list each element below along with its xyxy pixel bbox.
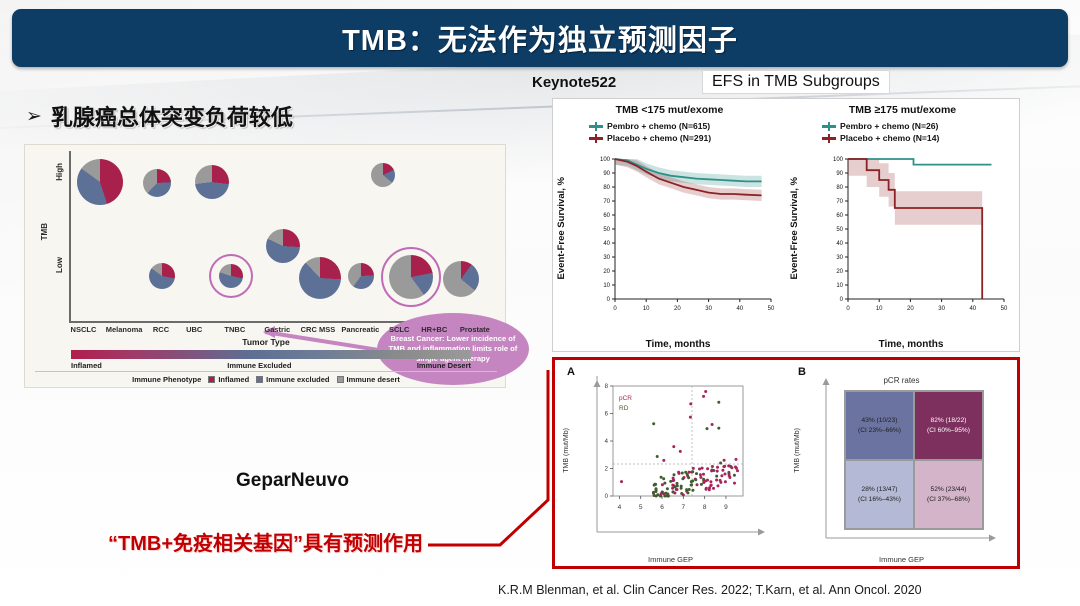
svg-text:40: 40 bbox=[969, 306, 976, 312]
efs-section-label: EFS in TMB Subgroups bbox=[702, 70, 890, 94]
xtick-tnbc: TNBC bbox=[213, 325, 257, 334]
xtick-pancreatic: Pancreatic bbox=[338, 325, 382, 334]
svg-text:90: 90 bbox=[836, 171, 843, 177]
km-legend-high: Pembro + chemo (N=26) Placebo + chemo (N… bbox=[822, 121, 939, 145]
heat-cell-low-low: 28% (13/47) (CI 16%–43%) bbox=[845, 460, 914, 529]
tmb-immune-phenotype-figure: High Low TMB Breast Cancer: Lower incide… bbox=[24, 144, 506, 388]
bubble-plot-area bbox=[71, 151, 491, 323]
gepar-panel-b-xlabel: Immune GEP bbox=[786, 555, 1017, 564]
highlight-ring-tnbc bbox=[209, 254, 253, 298]
svg-text:40: 40 bbox=[603, 241, 610, 247]
svg-text:40: 40 bbox=[736, 306, 743, 312]
xtick-melanoma: Melanoma bbox=[102, 325, 146, 334]
heat-cell-rate-high-low: 43% (10/23) bbox=[862, 416, 898, 426]
geparneuvo-title: GeparNeuvo bbox=[236, 470, 349, 492]
bubble-point-rcc bbox=[149, 263, 175, 289]
km-legend-item-placebo-high: Placebo + chemo (N=14) bbox=[822, 133, 939, 143]
km-legend-low: Pembro + chemo (N=615) Placebo + chemo (… bbox=[589, 121, 711, 145]
bubble-point-pancreatic bbox=[348, 263, 374, 289]
gepar-panel-a-xlabel: Immune GEP bbox=[555, 555, 786, 564]
xtick-ubc: UBC bbox=[176, 325, 213, 334]
xtick-gastric: Gastric bbox=[257, 325, 298, 334]
heat-cell-high-low: 43% (10/23) (CI 23%–66%) bbox=[845, 391, 914, 460]
bubble-y-axis-label: TMB bbox=[40, 223, 49, 240]
bubble-x-tick-labels: NSCLC Melanoma RCC UBC TNBC Gastric CRC … bbox=[65, 325, 497, 334]
bullet-label: 乳腺癌总体突变负荷较低 bbox=[51, 100, 293, 132]
svg-text:10: 10 bbox=[603, 283, 610, 289]
bubble-point-nsclc bbox=[77, 159, 123, 205]
km-panel-high-tmb: TMB ≥175 mut/exome Pembro + chemo (N=26)… bbox=[786, 99, 1019, 353]
citation-text: K.R.M Blenman, et al. Clin Cancer Res. 2… bbox=[498, 583, 922, 597]
bubble-x-axis-label: Tumor Type bbox=[25, 337, 507, 347]
heat-cell-ci-high-low: (CI 23%–66%) bbox=[858, 426, 901, 436]
km-y-axis-label-high: Event-Free Survival, % bbox=[789, 177, 800, 279]
bubble-point-crcmss bbox=[299, 257, 341, 299]
gradient-label-excluded: Immune Excluded bbox=[227, 361, 291, 370]
xtick-rcc: RCC bbox=[146, 325, 176, 334]
svg-text:20: 20 bbox=[836, 269, 843, 275]
svg-text:90: 90 bbox=[603, 171, 610, 177]
svg-text:60: 60 bbox=[603, 213, 610, 219]
xtick-hrbc: HR+BC bbox=[416, 325, 453, 334]
svg-text:50: 50 bbox=[1001, 306, 1008, 312]
legend-item-excluded: Immune excluded bbox=[256, 375, 329, 384]
svg-text:50: 50 bbox=[768, 306, 775, 312]
km-legend-label-pembro-high: Pembro + chemo (N=26) bbox=[840, 121, 938, 131]
svg-text:30: 30 bbox=[603, 255, 610, 261]
svg-text:0: 0 bbox=[605, 494, 609, 500]
slide-title-bar: TMB：无法作为独立预测因子 bbox=[12, 9, 1068, 67]
heat-cell-ci-low-low: (CI 16%–43%) bbox=[858, 495, 901, 505]
svg-text:7: 7 bbox=[682, 504, 686, 511]
bubble-ytick-low: Low bbox=[55, 257, 64, 273]
keynote-study-label: Keynote522 bbox=[532, 74, 616, 91]
km-panel-title-high: TMB ≥175 mut/exome bbox=[786, 104, 1019, 116]
heat-cell-rate-low-low: 28% (13/47) bbox=[862, 485, 898, 495]
svg-text:40: 40 bbox=[836, 241, 843, 247]
km-legend-label-placebo-high: Placebo + chemo (N=14) bbox=[840, 133, 939, 143]
svg-text:30: 30 bbox=[836, 255, 843, 261]
gradient-tick-labels: Inflamed Immune Excluded Immune Desert bbox=[71, 361, 471, 370]
svg-text:80: 80 bbox=[836, 185, 843, 191]
svg-text:70: 70 bbox=[836, 199, 843, 205]
svg-text:100: 100 bbox=[600, 157, 611, 163]
km-x-axis-label-high: Time, months bbox=[816, 339, 1006, 350]
svg-text:0: 0 bbox=[840, 297, 844, 303]
highlight-ring-hrbc bbox=[381, 247, 441, 307]
gepar-legend-rd: RD bbox=[619, 405, 629, 412]
bullet-heading: ➢ 乳腺癌总体突变负荷较低 bbox=[26, 100, 293, 132]
svg-text:60: 60 bbox=[836, 213, 843, 219]
km-plot-high: 0102030405060708090100 01020304050 bbox=[808, 153, 1016, 333]
svg-text:100: 100 bbox=[833, 157, 844, 163]
heat-cell-low-high: 52% (23/44) (CI 37%–68%) bbox=[914, 460, 983, 529]
km-legend-mark-placebo bbox=[589, 137, 603, 140]
heat-cell-rate-high-high: 82% (18/22) bbox=[931, 416, 967, 426]
km-legend-label-pembro-low: Pembro + chemo (N=615) bbox=[607, 121, 710, 131]
km-legend-item-pembro-high: Pembro + chemo (N=26) bbox=[822, 121, 939, 131]
km-legend-label-placebo-low: Placebo + chemo (N=291) bbox=[607, 133, 711, 143]
km-legend-mark-placebo-high bbox=[822, 137, 836, 140]
legend-item-inflamed: Inflamed bbox=[208, 375, 249, 384]
svg-text:0: 0 bbox=[846, 306, 850, 312]
km-figure: TMB <175 mut/exome Pembro + chemo (N=615… bbox=[552, 98, 1020, 352]
svg-text:30: 30 bbox=[938, 306, 945, 312]
heat-cell-ci-low-high: (CI 37%–68%) bbox=[927, 495, 970, 505]
page-title: TMB：无法作为独立预测因子 bbox=[342, 17, 738, 59]
svg-text:8: 8 bbox=[605, 384, 609, 390]
gepar-legend-pcr: pCR bbox=[619, 395, 632, 402]
svg-text:6: 6 bbox=[605, 412, 609, 418]
legend-swatch-excluded bbox=[256, 376, 263, 383]
xtick-sclc: SCLC bbox=[383, 325, 416, 334]
bubble-point-ubc bbox=[195, 165, 229, 199]
svg-text:10: 10 bbox=[836, 283, 843, 289]
svg-text:4: 4 bbox=[605, 439, 609, 445]
km-legend-item-placebo-low: Placebo + chemo (N=291) bbox=[589, 133, 711, 143]
svg-text:20: 20 bbox=[674, 306, 681, 312]
gepar-scatter-plot: pCR RD 02468 456789 bbox=[555, 360, 789, 556]
bubble-ytick-high: High bbox=[55, 163, 64, 181]
svg-text:50: 50 bbox=[836, 227, 843, 233]
km-panel-title-low: TMB <175 mut/exome bbox=[553, 104, 786, 116]
gepar-heatmap-grid: 43% (10/23) (CI 23%–66%) 82% (18/22) (CI… bbox=[844, 390, 984, 530]
svg-text:20: 20 bbox=[907, 306, 914, 312]
svg-text:70: 70 bbox=[603, 199, 610, 205]
gepar-panel-a: A TMB (mut/Mb) pCR RD 02468 456789 Immun… bbox=[555, 360, 786, 566]
xtick-nsclc: NSCLC bbox=[65, 325, 102, 334]
legend-label-excluded: Immune excluded bbox=[266, 375, 329, 384]
geparneuvo-statement: “TMB+免疫相关基因”具有预测作用 bbox=[108, 527, 423, 556]
svg-text:20: 20 bbox=[603, 269, 610, 275]
immune-phenotype-legend: Immune Phenotype Inflamed Immune exclude… bbox=[25, 375, 507, 384]
svg-text:4: 4 bbox=[618, 504, 622, 511]
legend-swatch-inflamed bbox=[208, 376, 215, 383]
legend-item-desert: Immune desert bbox=[337, 375, 400, 384]
bullet-arrow-icon: ➢ bbox=[26, 105, 42, 128]
figure-divider bbox=[35, 371, 497, 372]
bubble-point-prostate bbox=[443, 261, 479, 297]
bubble-point-sclc-high bbox=[371, 163, 395, 187]
km-legend-mark-pembro bbox=[589, 125, 603, 128]
svg-text:0: 0 bbox=[613, 306, 617, 312]
legend-title: Immune Phenotype bbox=[132, 375, 201, 384]
bubble-point-melanoma bbox=[143, 169, 171, 197]
heat-cell-high-high: 82% (18/22) (CI 60%–95%) bbox=[914, 391, 983, 460]
km-legend-item-pembro-low: Pembro + chemo (N=615) bbox=[589, 121, 711, 131]
svg-text:2: 2 bbox=[605, 467, 609, 473]
bubble-point-gastric bbox=[266, 229, 300, 263]
svg-text:0: 0 bbox=[607, 297, 611, 303]
legend-label-inflamed: Inflamed bbox=[218, 375, 249, 384]
legend-swatch-desert bbox=[337, 376, 344, 383]
svg-text:8: 8 bbox=[703, 504, 707, 511]
svg-text:30: 30 bbox=[705, 306, 712, 312]
xtick-prostate: Prostate bbox=[453, 325, 497, 334]
svg-text:6: 6 bbox=[660, 504, 664, 511]
km-plot-low: 0102030405060708090100 01020304050 bbox=[575, 153, 783, 333]
gradient-label-desert: Immune Desert bbox=[417, 361, 471, 370]
xtick-crcmss: CRC MSS bbox=[298, 325, 339, 334]
km-y-axis-label-low: Event-Free Survival, % bbox=[556, 177, 567, 279]
immune-phenotype-gradient bbox=[71, 350, 471, 359]
heat-cell-rate-low-high: 52% (23/44) bbox=[931, 485, 967, 495]
svg-text:10: 10 bbox=[876, 306, 883, 312]
geparneuvo-figure: A TMB (mut/Mb) pCR RD 02468 456789 Immun… bbox=[552, 357, 1020, 569]
gradient-label-inflamed: Inflamed bbox=[71, 361, 102, 370]
km-x-axis-label-low: Time, months bbox=[583, 339, 773, 350]
km-legend-mark-pembro-high bbox=[822, 125, 836, 128]
svg-text:10: 10 bbox=[643, 306, 650, 312]
svg-text:50: 50 bbox=[603, 227, 610, 233]
legend-label-desert: Immune desert bbox=[347, 375, 400, 384]
gepar-panel-b: B pCR rates TMB (mut/Mb) 43% (10/23) (CI… bbox=[786, 360, 1017, 566]
svg-text:80: 80 bbox=[603, 185, 610, 191]
svg-text:9: 9 bbox=[724, 504, 728, 511]
heat-cell-ci-high-high: (CI 60%–95%) bbox=[927, 426, 970, 436]
svg-text:5: 5 bbox=[639, 504, 643, 511]
km-panel-low-tmb: TMB <175 mut/exome Pembro + chemo (N=615… bbox=[553, 99, 786, 353]
